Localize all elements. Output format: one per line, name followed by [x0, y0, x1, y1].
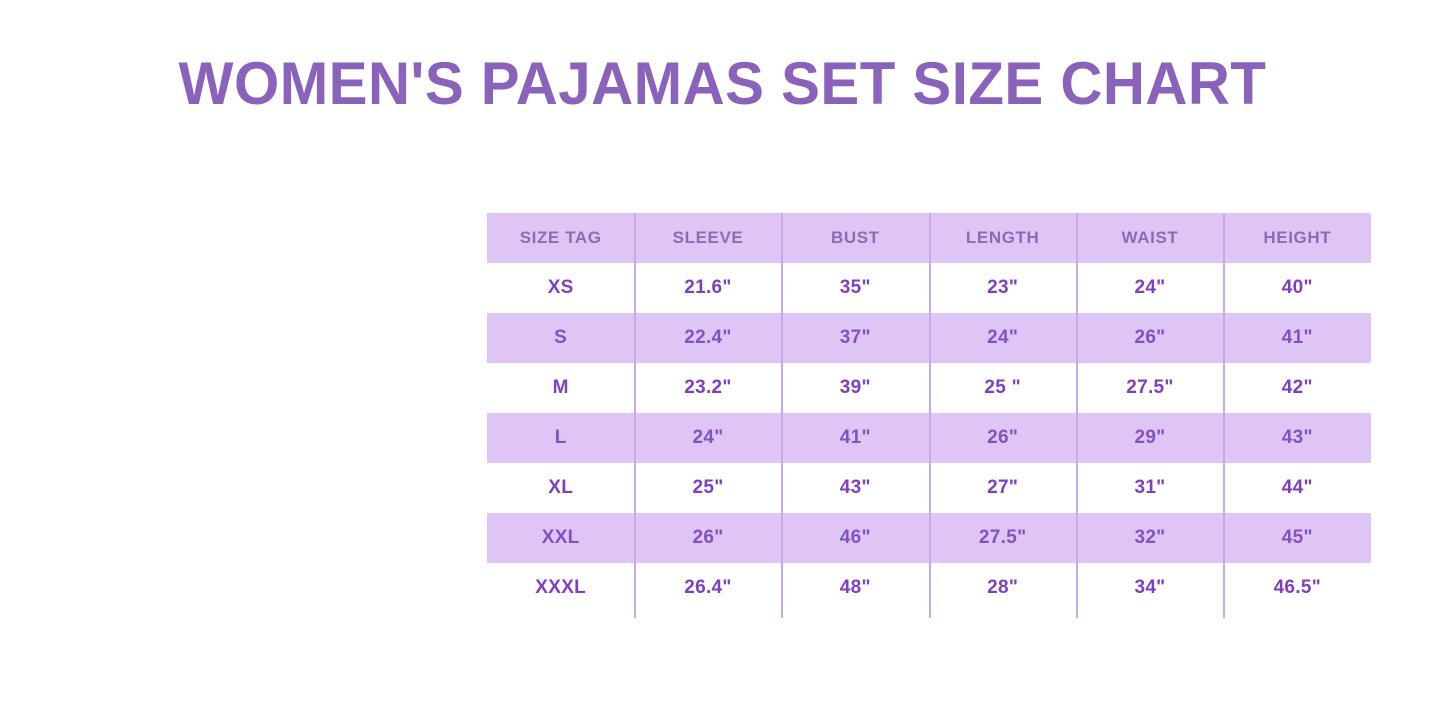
- table-row: S 22.4" 37" 24" 26" 41": [487, 313, 1371, 363]
- cell-size-tag: L: [487, 413, 634, 463]
- table-row: XL 25" 43" 27" 31" 44": [487, 463, 1371, 513]
- cell-waist: 31": [1076, 463, 1223, 513]
- cell-waist: 29": [1076, 413, 1223, 463]
- table-row: XXL 26" 46" 27.5" 32" 45": [487, 513, 1371, 563]
- column-header-sleeve: SLEEVE: [634, 213, 781, 263]
- table-row: L 24" 41" 26" 29" 43": [487, 413, 1371, 463]
- cell-size-tag: S: [487, 313, 634, 363]
- cell-waist: 24": [1076, 263, 1223, 313]
- table-body: XS 21.6" 35" 23" 24" 40" S 22.4" 37" 24"…: [487, 263, 1371, 613]
- cell-length: 23": [929, 263, 1076, 313]
- size-chart-table-container: SIZE TAG SLEEVE BUST LENGTH WAIST HEIGHT…: [487, 213, 1371, 613]
- cell-height: 46.5": [1224, 563, 1371, 613]
- cell-sleeve: 25": [634, 463, 781, 513]
- cell-height: 42": [1224, 363, 1371, 413]
- cell-length: 27.5": [929, 513, 1076, 563]
- cell-length: 25 ": [929, 363, 1076, 413]
- cell-height: 40": [1224, 263, 1371, 313]
- cell-waist: 32": [1076, 513, 1223, 563]
- cell-size-tag: XXL: [487, 513, 634, 563]
- table-row: M 23.2" 39" 25 " 27.5" 42": [487, 363, 1371, 413]
- cell-bust: 39": [782, 363, 929, 413]
- cell-bust: 41": [782, 413, 929, 463]
- column-header-bust: BUST: [782, 213, 929, 263]
- cell-bust: 35": [782, 263, 929, 313]
- cell-bust: 37": [782, 313, 929, 363]
- page-title: WOMEN'S PAJAMAS SET SIZE CHART: [22, 52, 1424, 116]
- cell-length: 27": [929, 463, 1076, 513]
- cell-waist: 26": [1076, 313, 1223, 363]
- cell-size-tag: M: [487, 363, 634, 413]
- cell-size-tag: XXXL: [487, 563, 634, 613]
- table-header: SIZE TAG SLEEVE BUST LENGTH WAIST HEIGHT: [487, 213, 1371, 263]
- cell-length: 26": [929, 413, 1076, 463]
- cell-height: 44": [1224, 463, 1371, 513]
- cell-size-tag: XS: [487, 263, 634, 313]
- cell-length: 24": [929, 313, 1076, 363]
- cell-bust: 48": [782, 563, 929, 613]
- cell-sleeve: 22.4": [634, 313, 781, 363]
- cell-size-tag: XL: [487, 463, 634, 513]
- table-row: XS 21.6" 35" 23" 24" 40": [487, 263, 1371, 313]
- column-header-waist: WAIST: [1076, 213, 1223, 263]
- cell-sleeve: 23.2": [634, 363, 781, 413]
- table-header-row: SIZE TAG SLEEVE BUST LENGTH WAIST HEIGHT: [487, 213, 1371, 263]
- table-row: XXXL 26.4" 48" 28" 34" 46.5": [487, 563, 1371, 613]
- cell-sleeve: 26.4": [634, 563, 781, 613]
- cell-height: 41": [1224, 313, 1371, 363]
- cell-sleeve: 21.6": [634, 263, 781, 313]
- cell-height: 45": [1224, 513, 1371, 563]
- size-chart-page: WOMEN'S PAJAMAS SET SIZE CHART SIZE TAG …: [0, 0, 1445, 723]
- column-header-length: LENGTH: [929, 213, 1076, 263]
- cell-sleeve: 26": [634, 513, 781, 563]
- cell-waist: 27.5": [1076, 363, 1223, 413]
- cell-bust: 46": [782, 513, 929, 563]
- size-chart-table: SIZE TAG SLEEVE BUST LENGTH WAIST HEIGHT…: [487, 213, 1371, 613]
- column-header-height: HEIGHT: [1224, 213, 1371, 263]
- cell-height: 43": [1224, 413, 1371, 463]
- cell-sleeve: 24": [634, 413, 781, 463]
- cell-length: 28": [929, 563, 1076, 613]
- cell-waist: 34": [1076, 563, 1223, 613]
- cell-bust: 43": [782, 463, 929, 513]
- column-header-size-tag: SIZE TAG: [487, 213, 634, 263]
